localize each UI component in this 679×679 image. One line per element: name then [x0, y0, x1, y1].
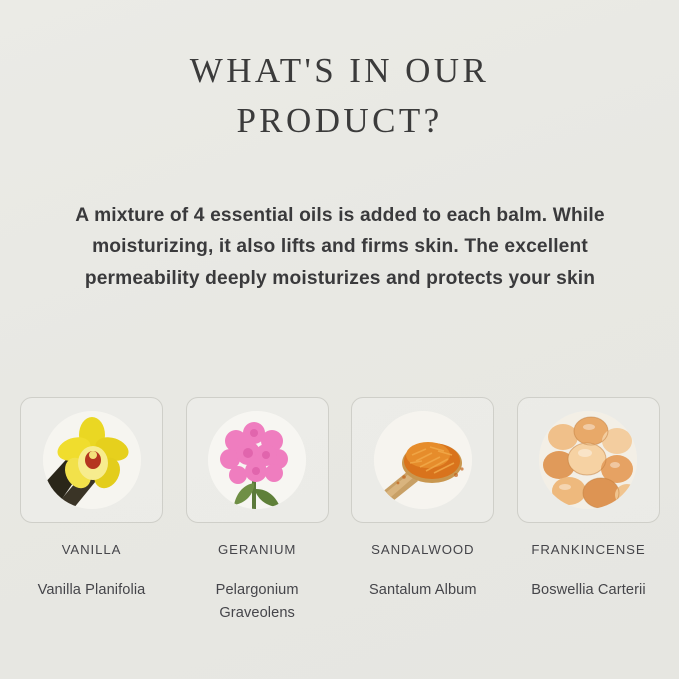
product-description: A mixture of 4 essential oils is added t… [38, 200, 642, 294]
ingredient-latin-name: Boswellia Carterii [531, 579, 646, 602]
geranium-flower-icon [208, 411, 306, 509]
ingredient-frame [20, 397, 163, 523]
ingredient-name: VANILLA [62, 542, 122, 557]
ingredient-card-vanilla: VANILLA Vanilla Planifolia [20, 397, 163, 624]
ingredient-card-sandalwood: SANDALWOOD Santalum Album [351, 397, 494, 624]
ingredient-latin-name: Santalum Album [369, 579, 477, 602]
ingredient-frame [351, 397, 494, 523]
page-title-line-2: product? [0, 96, 679, 146]
ingredient-name: FRANKINCENSE [531, 542, 645, 557]
ingredient-card-frankincense: FRANKINCENSE Boswellia Carterii [517, 397, 660, 624]
vanilla-flower-icon [43, 411, 141, 509]
ingredient-latin-name: Pelargonium Graveolens [186, 579, 329, 624]
product-ingredients-infographic: What's in our product? A mixture of 4 es… [0, 0, 679, 679]
ingredient-card-geranium: GERANIUM Pelargonium Graveolens [186, 397, 329, 624]
page-title: What's in our product? [0, 46, 679, 145]
frankincense-resin-icon [539, 411, 637, 509]
page-title-line-1: What's in our [190, 51, 489, 90]
ingredient-card-row: VANILLA Vanilla Planifolia [20, 397, 660, 624]
sandalwood-powder-icon [374, 411, 472, 509]
ingredient-name: GERANIUM [218, 542, 296, 557]
ingredient-latin-name: Vanilla Planifolia [38, 579, 146, 602]
ingredient-frame [517, 397, 660, 523]
ingredient-name: SANDALWOOD [371, 542, 474, 557]
ingredient-frame [186, 397, 329, 523]
